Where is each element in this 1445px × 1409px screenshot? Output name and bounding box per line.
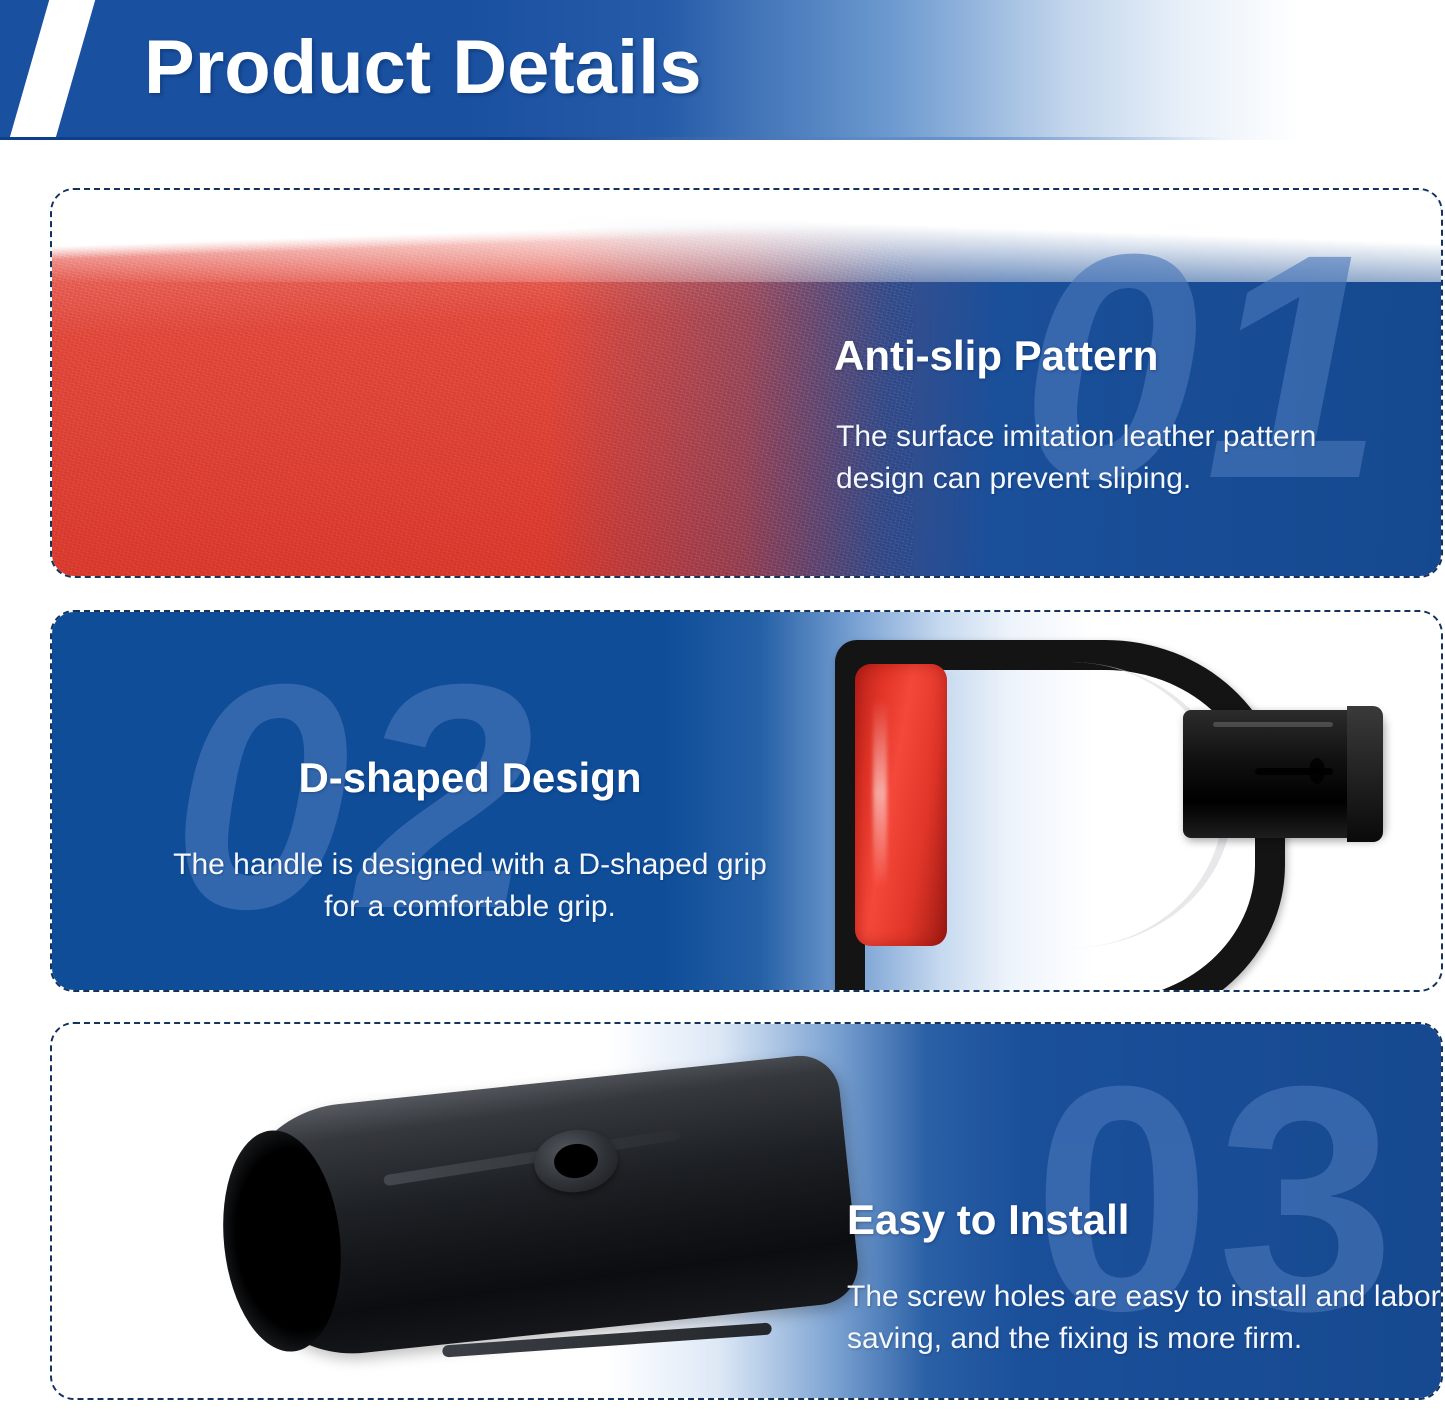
panel-01-body: The surface imitation leather pattern de…	[836, 416, 1412, 500]
page-header: Product Details	[0, 0, 1445, 140]
d-handle-product-image	[743, 618, 1423, 988]
header-bottom-edge	[0, 137, 1445, 140]
handle-socket-lip	[1347, 706, 1383, 842]
panel-01-text-block: Anti-slip Pattern The surface imitation …	[812, 330, 1412, 500]
tube-product-image	[82, 1034, 842, 1394]
panel-02-text-block: D-shaped Design The handle is designed w…	[170, 752, 770, 928]
grip-highlight	[873, 698, 887, 888]
red-grip	[855, 664, 947, 946]
panel-03-heading: Easy to Install	[847, 1194, 1443, 1246]
panel-03-text-block: Easy to Install The screw holes are easy…	[847, 1194, 1443, 1360]
feature-panel-02: 02 D-shaped Design The handle is designe…	[50, 610, 1443, 992]
panel-01-heading: Anti-slip Pattern	[834, 330, 1412, 382]
handle-socket-seam	[1213, 722, 1333, 727]
feature-panel-01: 01 Anti-slip Pattern The surface imitati…	[50, 188, 1443, 578]
panel-03-body: The screw holes are easy to install and …	[847, 1276, 1443, 1360]
panel-02-heading: D-shaped Design	[170, 752, 770, 804]
panel-02-body: The handle is designed with a D-shaped g…	[170, 844, 770, 928]
header-slash-decoration	[3, 0, 98, 140]
page-title: Product Details	[144, 16, 701, 120]
handle-socket-nub	[1309, 758, 1325, 784]
feature-panel-03: 03 Easy to Install The screw holes are e…	[50, 1022, 1443, 1400]
